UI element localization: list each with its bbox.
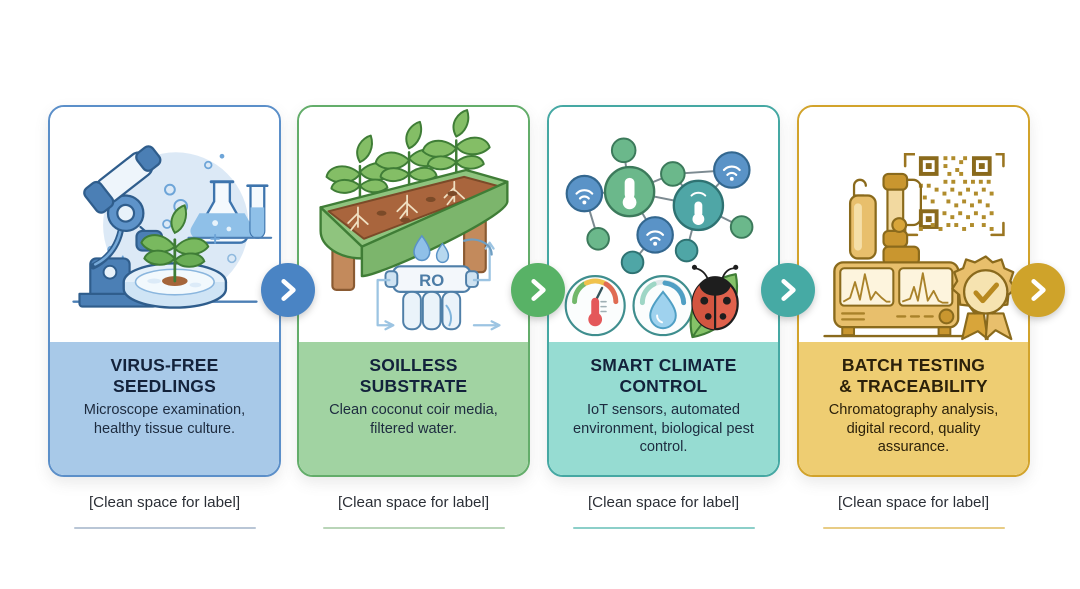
label-slot-4-rule bbox=[823, 527, 1005, 529]
label-slot-4-text: [Clean space for label] bbox=[797, 494, 1030, 511]
card-2-title: SOILLESS SUBSTRATE bbox=[311, 355, 516, 396]
arrow-connector-1[interactable] bbox=[261, 263, 315, 317]
arrow-connector-2[interactable] bbox=[511, 263, 565, 317]
arrow-connector-4[interactable] bbox=[1011, 263, 1065, 317]
card-3-description: IoT sensors, automated environment, biol… bbox=[561, 401, 766, 457]
card-1-body: VIRUS-FREE SEEDLINGS Microscope examinat… bbox=[50, 342, 279, 475]
chevron-right-icon bbox=[525, 277, 551, 303]
chromatograph-qr-code-quality-seal-icon bbox=[799, 107, 1028, 346]
label-slot-4: [Clean space for label] bbox=[797, 494, 1030, 529]
arrow-connector-3[interactable] bbox=[761, 263, 815, 317]
label-slot-3-rule bbox=[573, 527, 755, 529]
card-4-description: Chromatography analysis, digital record,… bbox=[811, 401, 1016, 457]
card-virus-free-seedlings[interactable]: VIRUS-FREE SEEDLINGS Microscope examinat… bbox=[48, 105, 281, 477]
label-slot-1-rule bbox=[74, 527, 256, 529]
label-slot-2-rule bbox=[323, 527, 505, 529]
card-1-title: VIRUS-FREE SEEDLINGS bbox=[62, 355, 267, 396]
card-soilless-substrate[interactable]: RO SOILLESS SUBSTRATE bbox=[297, 105, 530, 477]
label-slot-3-text: [Clean space for label] bbox=[547, 494, 780, 511]
card-1-description: Microscope examination, healthy tissue c… bbox=[62, 401, 267, 438]
chevron-right-icon bbox=[1025, 277, 1051, 303]
card-3-body: SMART CLIMATE CONTROL IoT sensors, autom… bbox=[549, 342, 778, 475]
card-3-illustration bbox=[549, 107, 778, 346]
label-slot-2-text: [Clean space for label] bbox=[297, 494, 530, 511]
label-slot-1-text: [Clean space for label] bbox=[48, 494, 281, 511]
card-2-illustration: RO bbox=[299, 107, 528, 346]
microscope-petri-dish-seedling-flask-icon bbox=[50, 107, 279, 346]
planter-trough-seedlings-ro-filter-icon: RO bbox=[299, 107, 528, 346]
card-batch-testing-traceability[interactable]: BATCH TESTING & TRACEABILITY Chromatogra… bbox=[797, 105, 1030, 477]
chevron-right-icon bbox=[275, 277, 301, 303]
card-4-title: BATCH TESTING & TRACEABILITY bbox=[811, 355, 1016, 396]
chevron-right-icon bbox=[775, 277, 801, 303]
infographic-canvas: VIRUS-FREE SEEDLINGS Microscope examinat… bbox=[0, 0, 1080, 589]
card-1-illustration bbox=[50, 107, 279, 346]
label-slot-1: [Clean space for label] bbox=[48, 494, 281, 529]
card-4-illustration bbox=[799, 107, 1028, 346]
card-2-body: SOILLESS SUBSTRATE Clean coconut coir me… bbox=[299, 342, 528, 475]
label-slot-2: [Clean space for label] bbox=[297, 494, 530, 529]
card-3-title: SMART CLIMATE CONTROL bbox=[561, 355, 766, 396]
card-2-description: Clean coconut coir media, filtered water… bbox=[311, 401, 516, 438]
iot-sensor-network-gauges-ladybug-leaf-icon bbox=[549, 107, 778, 346]
label-slot-3: [Clean space for label] bbox=[547, 494, 780, 529]
card-4-body: BATCH TESTING & TRACEABILITY Chromatogra… bbox=[799, 342, 1028, 475]
card-smart-climate-control[interactable]: SMART CLIMATE CONTROL IoT sensors, autom… bbox=[547, 105, 780, 477]
ro-filter-label: RO bbox=[419, 271, 444, 290]
